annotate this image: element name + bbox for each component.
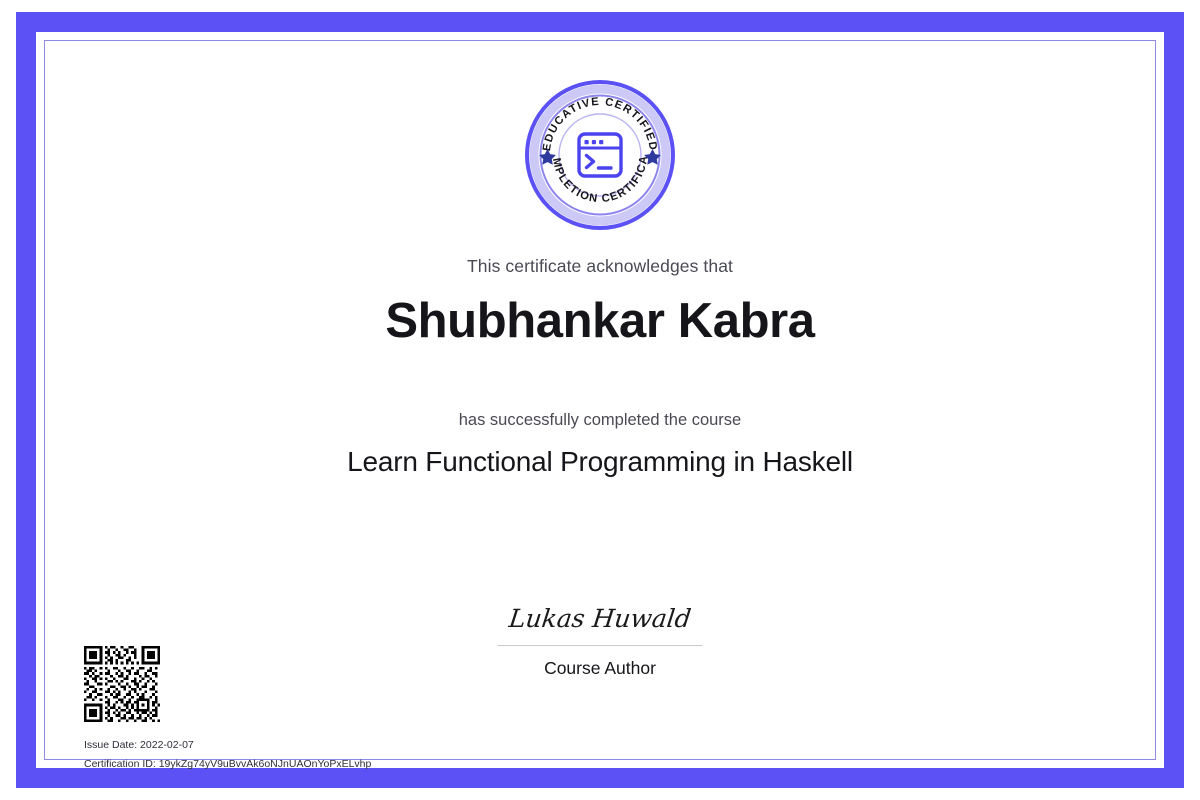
issue-date-label: Issue Date: [84,739,137,751]
signature-block: Lukas Huwald Course Author [498,599,703,679]
completion-line: has successfully completed the course [45,411,1155,430]
signature-divider [498,645,703,646]
course-title: Learn Functional Programming in Haskell [45,446,1155,478]
signature-name: Lukas Huwald [495,599,705,639]
footer-metadata: Issue Date: 2022-02-07 Certification ID:… [84,736,371,774]
acknowledgement-line: This certificate acknowledges that [45,256,1155,277]
certificate-body: EDUCATIVE CERTIFIED COMPLETION CERTIFICA… [45,41,1155,759]
qr-code[interactable] [84,646,160,722]
certificate-inner-frame: EDUCATIVE CERTIFIED COMPLETION CERTIFICA… [44,40,1156,760]
issue-date-value: 2022-02-07 [140,739,194,751]
recipient-name: Shubhankar Kabra [45,293,1155,349]
certification-id-row: Certification ID: 19ykZg74yV9uBvvAk6oNJn… [84,755,371,774]
issue-date-row: Issue Date: 2022-02-07 [84,736,371,755]
signature-role: Course Author [498,658,703,679]
certificate-outer-frame: EDUCATIVE CERTIFIED COMPLETION CERTIFICA… [16,12,1184,788]
certification-id-label: Certification ID: [84,758,156,770]
badge-graphic: EDUCATIVE CERTIFIED COMPLETION CERTIFICA… [524,79,676,231]
certificate-seal: EDUCATIVE CERTIFIED COMPLETION CERTIFICA… [45,79,1155,231]
certification-id-value: 19ykZg74yV9uBvvAk6oNJnUAOnYoPxELvhp [159,758,372,770]
